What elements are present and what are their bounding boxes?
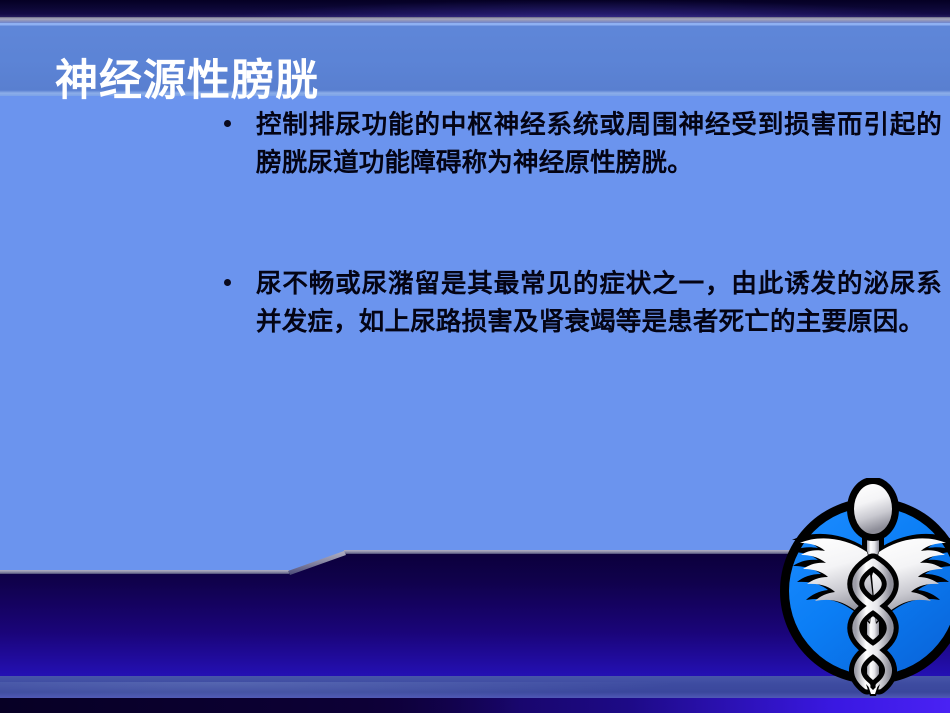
- slide-body: 控制排尿功能的中枢神经系统或周围神经受到损害而引起的膀胱尿道功能障碍称为神经原性…: [0, 96, 950, 516]
- bevel-edge-left: [0, 570, 289, 574]
- bullet-item: 尿不畅或尿潴留是其最常见的症状之一，由此诱发的泌尿系并发症，如上尿路损害及肾衰竭…: [212, 265, 942, 341]
- title-band: 神经源性膀胱: [0, 23, 950, 96]
- top-navy-sheen: [0, 0, 950, 18]
- bullet-text: 控制排尿功能的中枢神经系统或周围神经受到损害而引起的膀胱尿道功能障碍称为神经原性…: [256, 106, 942, 182]
- bullet-marker-icon: [224, 279, 231, 286]
- bullet-marker-icon: [224, 120, 231, 127]
- bullet-text: 尿不畅或尿潴留是其最常见的症状之一，由此诱发的泌尿系并发症，如上尿路损害及肾衰竭…: [256, 265, 942, 341]
- bullet-item: 控制排尿功能的中枢神经系统或周围神经受到损害而引起的膀胱尿道功能障碍称为神经原性…: [212, 106, 942, 182]
- caduceus-icon: [778, 478, 950, 700]
- bottom-base-shadow: [0, 698, 520, 713]
- presentation-slide: 神经源性膀胱 控制排尿功能的中枢神经系统或周围神经受到损害而引起的膀胱尿道功能障…: [0, 0, 950, 713]
